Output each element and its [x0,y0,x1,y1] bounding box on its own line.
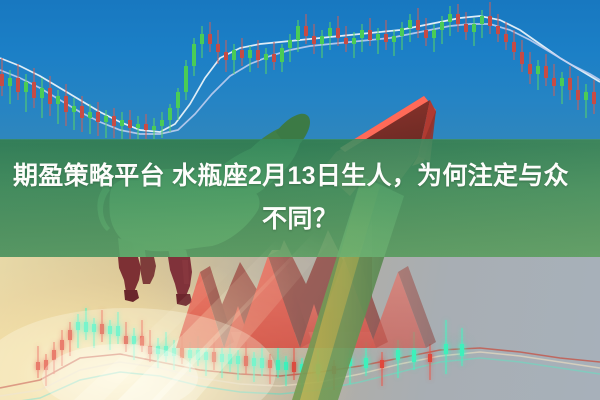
title-line-1: 期盈策略平台 水瓶座2月13日生人，为何注定与众 [5,155,595,198]
banner-image: 期盈策略平台 水瓶座2月13日生人，为何注定与众 不同？ [0,0,600,400]
page-title: 期盈策略平台 水瓶座2月13日生人，为何注定与众 不同？ [0,139,600,257]
title-line-2: 不同？ [0,198,600,241]
